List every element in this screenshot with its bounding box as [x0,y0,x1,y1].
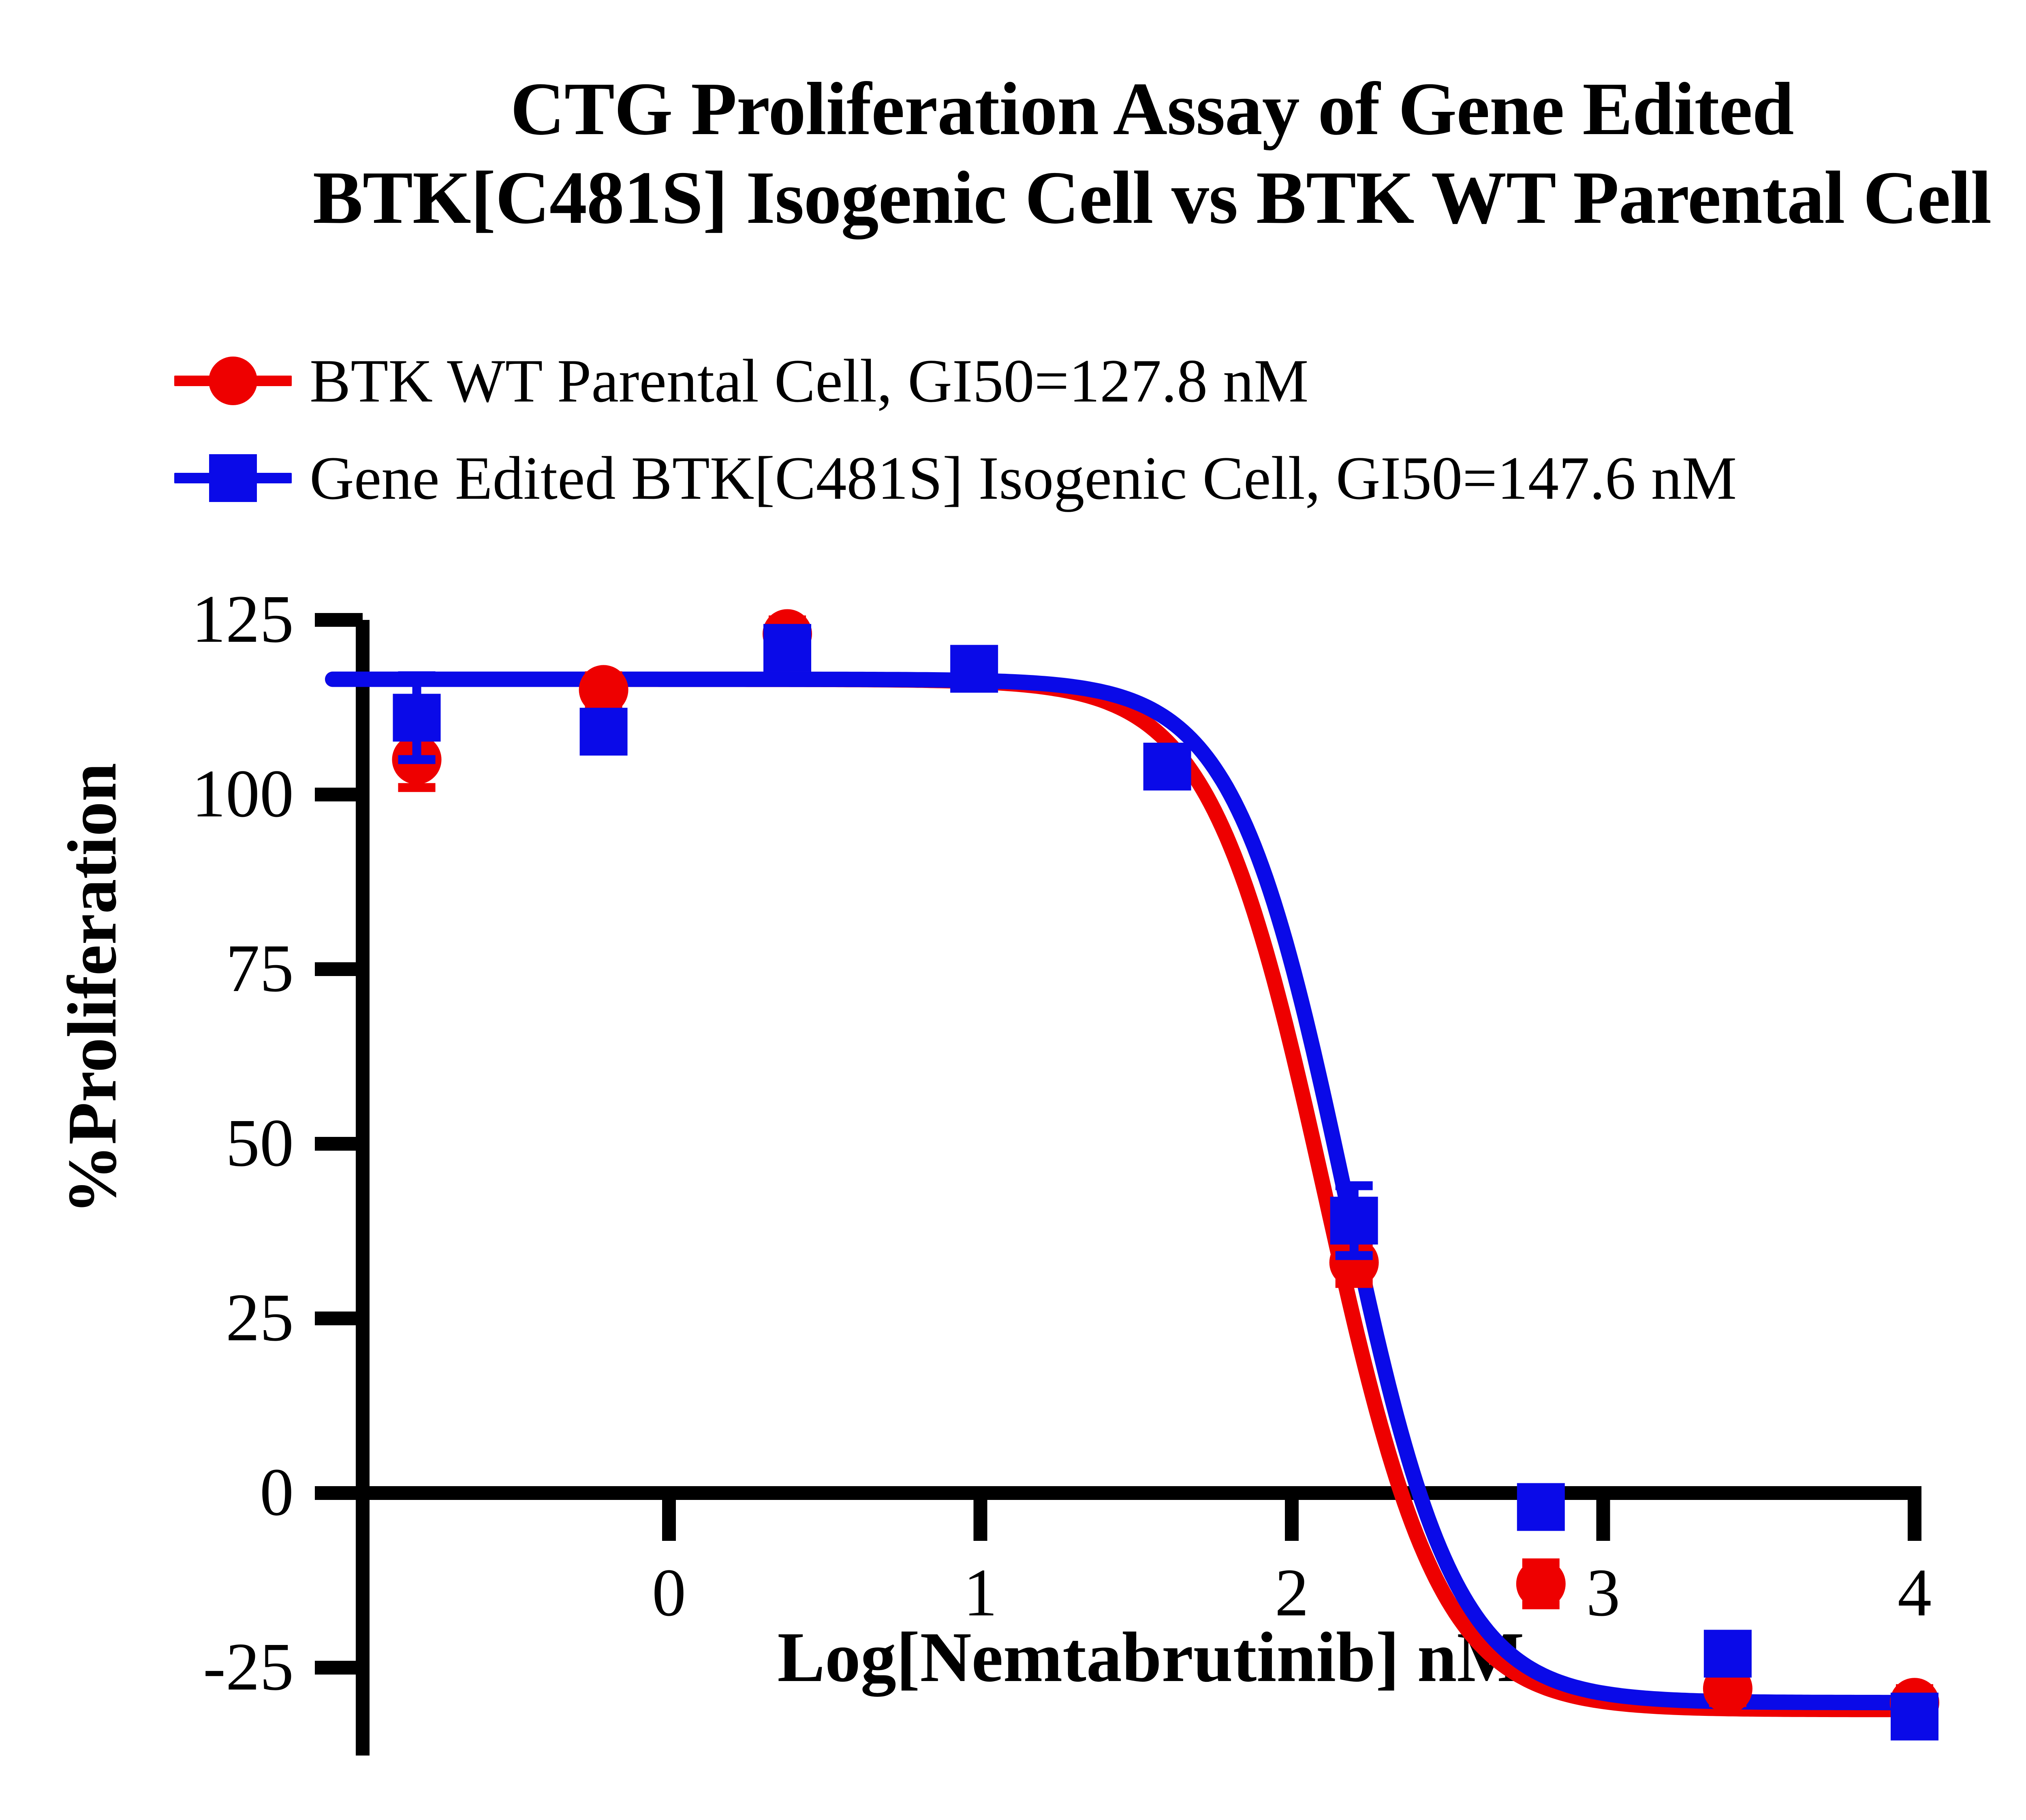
x-tick-label: 2 [1231,1554,1353,1632]
square-marker-icon [1143,743,1191,790]
square-marker-icon [1330,1197,1378,1245]
fit-curve [333,679,1915,1703]
x-tick-label: 1 [920,1554,1041,1632]
y-tick-label: 75 [67,929,294,1008]
y-tick-label: 25 [67,1279,294,1357]
y-tick-label: 125 [67,580,294,658]
x-tick-label: 0 [608,1554,730,1632]
data-point [1704,1630,1752,1678]
plot-canvas [0,0,2026,1820]
square-marker-icon [580,708,628,756]
x-tick-label: 4 [1854,1554,1975,1632]
circle-marker-icon [579,665,628,714]
y-tick-label: 50 [67,1104,294,1182]
square-marker-icon [393,694,441,741]
square-marker-icon [1891,1693,1938,1741]
data-point [1143,743,1191,790]
fit-curves-layer [333,679,1915,1710]
data-point [1517,1483,1565,1531]
chart-figure: CTG Proliferation Assay of Gene Edited B… [0,0,2026,1820]
y-tick-label: -25 [67,1628,294,1706]
square-marker-icon [950,645,998,693]
data-point [763,624,811,672]
axes-layer [315,620,1921,1756]
square-marker-icon [763,624,811,672]
y-tick-label: 0 [67,1453,294,1532]
x-tick-label: 3 [1543,1554,1664,1632]
y-tick-label: 100 [67,755,294,833]
fit-curve [333,679,1915,1710]
data-point [1891,1693,1938,1741]
square-marker-icon [1704,1630,1752,1678]
data-point [950,645,998,693]
data-point [580,708,628,756]
data-point [579,665,628,714]
square-marker-icon [1517,1483,1565,1531]
